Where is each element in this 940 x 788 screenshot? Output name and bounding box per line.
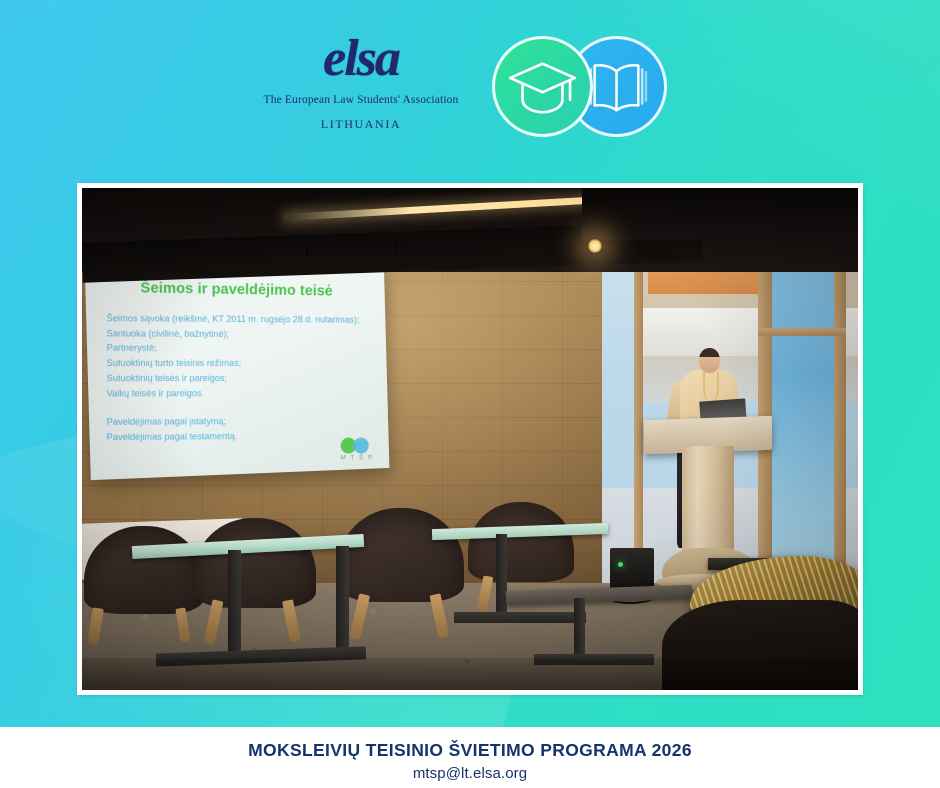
slide-line: Sutuoktinių teisės ir pareigos; — [107, 371, 370, 386]
slide-line: Santuoka (civilinė, bažnytinė); — [107, 326, 370, 342]
slide-mtsp-logo: M T Š P — [340, 438, 373, 462]
slide-line: Šeimos sąvoka (reikšmė, KT 2011 m. rugsė… — [107, 311, 370, 327]
mtsp-blue-dot-icon — [353, 438, 369, 454]
slide-body: Šeimos sąvoka (reikšmė, KT 2011 m. rugsė… — [107, 311, 370, 445]
photo-frame: Šeimos ir paveldėjimo teisė Šeimos sąvok… — [77, 183, 863, 695]
emblem-circle-cap — [492, 36, 593, 137]
photo-ceiling-hanger — [306, 240, 308, 256]
footer: MOKSLEIVIŲ TEISINIO ŠVIETIMO PROGRAMA 20… — [0, 727, 940, 788]
table-leg — [496, 534, 507, 618]
photo-ceiling-hanger — [394, 238, 396, 254]
table-leg — [336, 546, 349, 650]
program-title: MOKSLEIVIŲ TEISINIO ŠVIETIMO PROGRAMA 20… — [0, 740, 940, 761]
elsa-wordmark: elsa — [256, 33, 466, 85]
slide-line: Paveldėjimas pagal testamentą. — [107, 428, 370, 445]
slide-line: Partnerystė; — [107, 341, 370, 356]
photo-spotlight — [587, 238, 603, 254]
photo-window-transom — [758, 328, 846, 336]
graduation-cap-icon — [495, 39, 590, 134]
elsa-country-label: LITHUANIA — [256, 117, 466, 132]
slide-line: Vaikų teisės ir pareigos. — [107, 385, 370, 400]
table-leg — [574, 598, 585, 660]
header: elsa The European Law Students' Associat… — [0, 0, 940, 170]
projection-screen: Šeimos ir paveldėjimo teisė Šeimos sąvok… — [85, 264, 390, 480]
program-emblem — [492, 36, 668, 138]
photo-equipment-led-icon — [618, 562, 623, 567]
table-base — [454, 612, 586, 623]
slide-content: Šeimos ir paveldėjimo teisė Šeimos sąvok… — [85, 264, 390, 480]
speaker-lanyard — [703, 372, 719, 404]
contact-email[interactable]: mtsp@lt.elsa.org — [0, 765, 940, 782]
slide-line: Sutuoktinių turto teisinis režimas; — [107, 356, 370, 371]
photo-foreground-shadow — [82, 658, 858, 690]
elsa-logo: elsa The European Law Students' Associat… — [256, 33, 466, 132]
elsa-tagline: The European Law Students' Association — [256, 94, 466, 106]
speaker-head — [699, 348, 720, 373]
event-photo: Šeimos ir paveldėjimo teisė Šeimos sąvok… — [82, 188, 858, 690]
poster-canvas: elsa The European Law Students' Associat… — [0, 0, 940, 788]
table-leg — [228, 550, 241, 658]
mtsp-logo-text: M T Š P — [340, 454, 373, 461]
slide-spacer — [107, 400, 370, 415]
slide-title: Šeimos ir paveldėjimo teisė — [104, 280, 367, 300]
mtsp-logo-dots — [340, 438, 373, 454]
